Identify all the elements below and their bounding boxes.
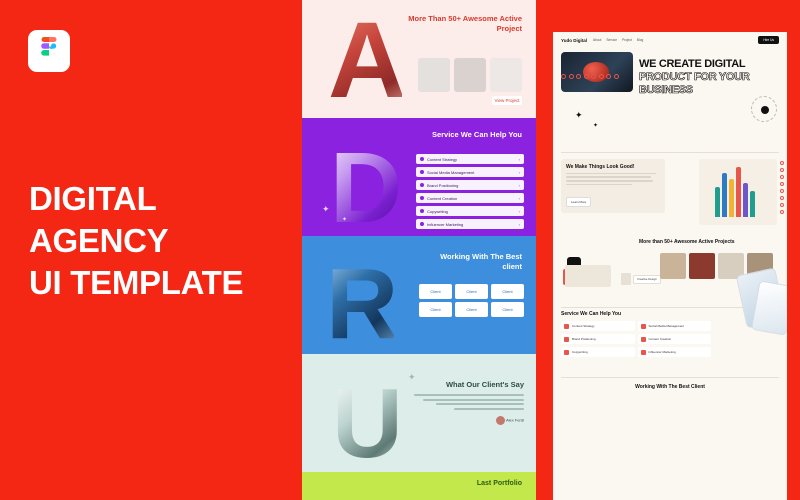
service-item[interactable]: Brand Positioning › — [416, 180, 524, 190]
mockup-section-portfolio-strip: Last Portfolio — [302, 472, 536, 500]
service-icon — [641, 324, 646, 329]
service-item[interactable]: Copywriting › — [416, 206, 524, 216]
service-label: Social Media Management — [649, 324, 685, 328]
dot-decoration — [561, 74, 619, 79]
client-logo-cell: Client — [455, 284, 488, 299]
clients-section-title: Working With The Best client — [426, 252, 522, 272]
nav-link-project[interactable]: Project — [622, 38, 632, 42]
thumbnail — [418, 58, 450, 92]
figma-logo-icon — [28, 30, 70, 72]
service-item[interactable]: Content Creation — [638, 334, 712, 344]
letter-d-graphic: D — [330, 138, 398, 236]
headline-line-2: AGENCY — [29, 220, 243, 262]
testimonial-block: What Our Client's Say Alex Ferdi — [414, 380, 524, 425]
client-logo-grid: Client Client Client Client Client Clien… — [419, 284, 524, 317]
bullet-icon — [420, 183, 424, 187]
learn-more-button[interactable]: Learn More — [566, 197, 591, 207]
service-icon — [564, 324, 569, 329]
avatar — [496, 416, 505, 425]
about-heading: We Make Things Look Good! — [566, 164, 660, 170]
service-label: Influencer Marketing — [427, 222, 463, 227]
client-logo-cell: Client — [491, 302, 524, 317]
full-page-mockup: Yudo Digital About Service Project Blog … — [553, 32, 787, 500]
thumbnail — [454, 58, 486, 92]
service-item[interactable]: Copywriting — [561, 347, 635, 357]
headline-line-3: UI TEMPLATE — [29, 262, 243, 304]
mockup-section-clients: R Working With The Best client Client Cl… — [302, 236, 536, 354]
services-grid: Content Strategy Social Media Management… — [561, 321, 711, 357]
services-section-title: Service We Can Help You — [412, 130, 522, 140]
tower-illustration — [699, 159, 777, 225]
service-label: Content Strategy — [427, 157, 457, 162]
portfolio-strip-title: Last Portfolio — [477, 480, 522, 487]
service-item[interactable]: Influencer Marketing — [638, 347, 712, 357]
dot-decoration — [780, 161, 784, 214]
service-item[interactable]: Social Media Management › — [416, 167, 524, 177]
view-project-button[interactable]: View Project — [492, 96, 522, 105]
client-logo-cell: Client — [455, 302, 488, 317]
letter-a-graphic: A — [328, 6, 402, 114]
nav-links: About Service Project Blog — [593, 38, 643, 42]
hero-title-line-3: BUSINESS — [639, 84, 750, 97]
service-item[interactable]: Content Strategy — [561, 321, 635, 331]
service-label: Copywriting — [572, 350, 588, 354]
client-logo-cell: Client — [419, 302, 452, 317]
service-label: Brand Positioning — [572, 337, 596, 341]
arrow-right-icon: › — [519, 222, 520, 227]
hero-image — [561, 52, 633, 92]
brand-logo: Yudo Digital — [561, 38, 587, 43]
testimonial-section-title: What Our Client's Say — [414, 380, 524, 390]
letter-u-graphic: U — [332, 374, 399, 472]
sparkle-icon: ✦ — [575, 110, 583, 121]
service-item[interactable]: Content Creation › — [416, 193, 524, 203]
hero-title-line-1: WE CREATE DIGITAL — [639, 58, 750, 71]
testimonial-author-row: Alex Ferdi — [414, 416, 524, 425]
mockup-navbar: Yudo Digital About Service Project Blog … — [553, 32, 787, 48]
bullet-icon — [420, 170, 424, 174]
mockup-hero: WE CREATE DIGITAL PRODUCT FOR YOUR BUSIN… — [553, 48, 787, 152]
bullet-icon — [420, 209, 424, 213]
service-item[interactable]: Influencer Marketing › — [416, 219, 524, 229]
mockup-clients-heading: Working With The Best Client — [553, 378, 787, 396]
bullet-icon — [420, 222, 424, 226]
mockup-section-about: A More Than 50+ Awesome Active Project V… — [302, 0, 536, 118]
headline-line-1: DIGITAL — [29, 178, 243, 220]
project-thumbnail[interactable] — [689, 253, 715, 279]
tower-bars — [715, 167, 755, 217]
hero-title: WE CREATE DIGITAL PRODUCT FOR YOUR BUSIN… — [639, 58, 750, 97]
about-thumbnails — [418, 58, 522, 92]
thumbnail — [490, 58, 522, 92]
desk-illustration — [565, 265, 611, 287]
left-branding-panel: DIGITAL AGENCY UI TEMPLATE — [0, 0, 302, 500]
mockup-section-services: D ✦ ✦ Service We Can Help You Content St… — [302, 118, 536, 236]
service-label: Influencer Marketing — [649, 350, 676, 354]
hero-title-line-2: PRODUCT FOR YOUR — [639, 71, 750, 84]
sparkle-icon: ✦ — [342, 216, 347, 223]
service-label: Content Creation — [649, 337, 672, 341]
services-list: Content Strategy › Social Media Manageme… — [416, 154, 524, 229]
projects-heading: More than 50+ Awesome Active Projects — [639, 239, 735, 246]
arrow-right-icon: › — [519, 196, 520, 201]
service-icon — [641, 350, 646, 355]
testimonial-text-lines — [414, 394, 524, 410]
arrow-right-icon: › — [519, 157, 520, 162]
mockup-column-sections: A More Than 50+ Awesome Active Project V… — [302, 0, 536, 500]
mockup-section-testimonial: U ✦ What Our Client's Say Alex Ferdi — [302, 354, 536, 472]
service-icon — [564, 350, 569, 355]
page-title: DIGITAL AGENCY UI TEMPLATE — [29, 178, 243, 304]
service-label: Brand Positioning — [427, 183, 458, 188]
service-item[interactable]: Brand Positioning — [561, 334, 635, 344]
about-section-title: More Than 50+ Awesome Active Project — [404, 14, 522, 34]
mockup-services-section: Service We Can Help You Content Strategy… — [553, 307, 787, 377]
service-item[interactable]: Content Strategy › — [416, 154, 524, 164]
arrow-right-icon: › — [519, 209, 520, 214]
project-thumbnail[interactable] — [660, 253, 686, 279]
hero-abstract-shape — [583, 62, 609, 82]
circular-badge-icon — [751, 96, 777, 122]
client-logo-cell: Client — [419, 284, 452, 299]
service-label: Social Media Management — [427, 170, 474, 175]
letter-r-graphic: R — [326, 254, 394, 354]
service-label: Copywriting — [427, 209, 448, 214]
plant-illustration — [621, 273, 631, 285]
bullet-icon — [420, 157, 424, 161]
arrow-right-icon: › — [519, 170, 520, 175]
nav-link-blog[interactable]: Blog — [637, 38, 643, 42]
service-icon — [641, 337, 646, 342]
project-tag: Creative Design — [633, 275, 661, 284]
client-logo-cell: Client — [491, 284, 524, 299]
mockup-about-section: We Make Things Look Good! Learn More — [553, 153, 787, 237]
sparkle-icon: ✦ — [322, 204, 330, 215]
testimonial-author: Alex Ferdi — [506, 417, 524, 422]
hire-us-button[interactable]: Hire Us — [758, 36, 779, 44]
bullet-icon — [420, 196, 424, 200]
nav-link-about[interactable]: About — [593, 38, 601, 42]
service-icon — [564, 337, 569, 342]
service-label: Content Creation — [427, 196, 457, 201]
sparkle-icon: ✦ — [593, 122, 598, 129]
about-card: We Make Things Look Good! Learn More — [561, 159, 665, 214]
nav-link-service[interactable]: Service — [606, 38, 617, 42]
about-body-lines — [566, 173, 660, 186]
service-label: Content Strategy — [572, 324, 595, 328]
service-item[interactable]: Social Media Management — [638, 321, 712, 331]
arrow-right-icon: › — [519, 183, 520, 188]
